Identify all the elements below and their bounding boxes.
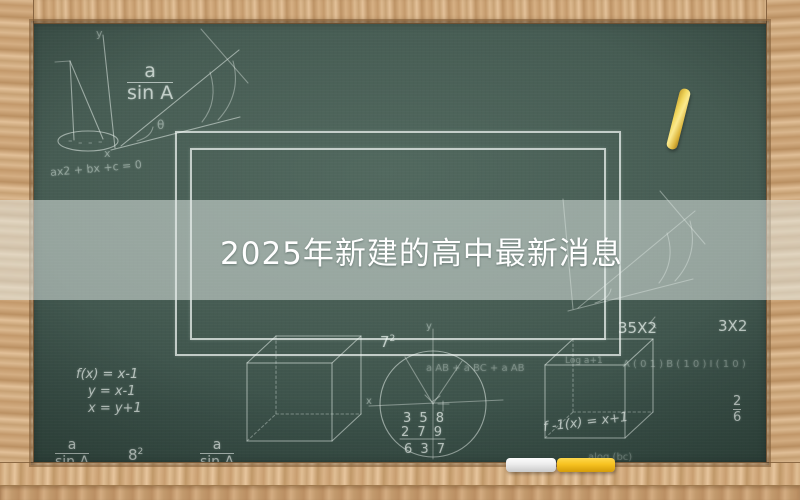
chalk-x-equation: x = y+1: [88, 401, 142, 416]
chalk-angle-theta-label: θ: [157, 118, 164, 132]
frame-top-rail: [0, 0, 800, 24]
chalk-quadratic-equation: ax2 + bx +c = 0: [50, 158, 143, 179]
chalk-fraction-a-over-sina-2: a sin A: [55, 438, 89, 463]
yellow-chalk-on-board: [666, 88, 692, 151]
chalkboard-scene: a sin A ax2 + bx +c = 0 y x θ 35X2 3X2 A…: [0, 0, 800, 500]
chalk-matrix-row: A ( 0 1 ) B ( 1 0 ) I ( 1 0 ): [623, 359, 746, 370]
chalk-inverse-function: f -1(x) = x+1: [542, 410, 629, 435]
chalk-axis-x-label: x: [104, 147, 111, 160]
chalk-expr-35x2: 35X2: [618, 319, 657, 337]
chalk-y-equation: y = x-1: [88, 384, 136, 399]
chalk-set-expression: a AB + a BC + a AB: [426, 363, 524, 374]
white-chalk-in-tray: [506, 458, 556, 472]
chalk-fraction-two-over-six: 2 6: [733, 395, 741, 424]
chalk-eight: 82: [128, 446, 143, 463]
chalk-sum-addend-2: 2 7 9: [401, 425, 444, 440]
yellow-chalk-in-tray: [557, 458, 615, 472]
chalk-circle-axis-x: x: [366, 396, 372, 407]
chalk-fx-equation: f(x) = x-1: [76, 367, 138, 382]
chalk-fraction-a-over-sina-3: a sin A: [200, 438, 234, 463]
chalk-fraction-a-over-sina: a sin A: [127, 62, 173, 104]
chalk-log-small: Log a+1: [565, 356, 603, 366]
tray-lip: [0, 485, 800, 500]
title-band-overlay: [0, 200, 800, 300]
chalk-sum-result: 6 3 7: [404, 442, 447, 457]
chalk-expr-3x2: 3X2: [718, 317, 747, 335]
chalk-sum-addend-1: 3 5 8: [403, 411, 446, 426]
chalk-eight-exponent: 2: [138, 447, 144, 457]
chalk-axis-y-label: y: [96, 27, 103, 40]
